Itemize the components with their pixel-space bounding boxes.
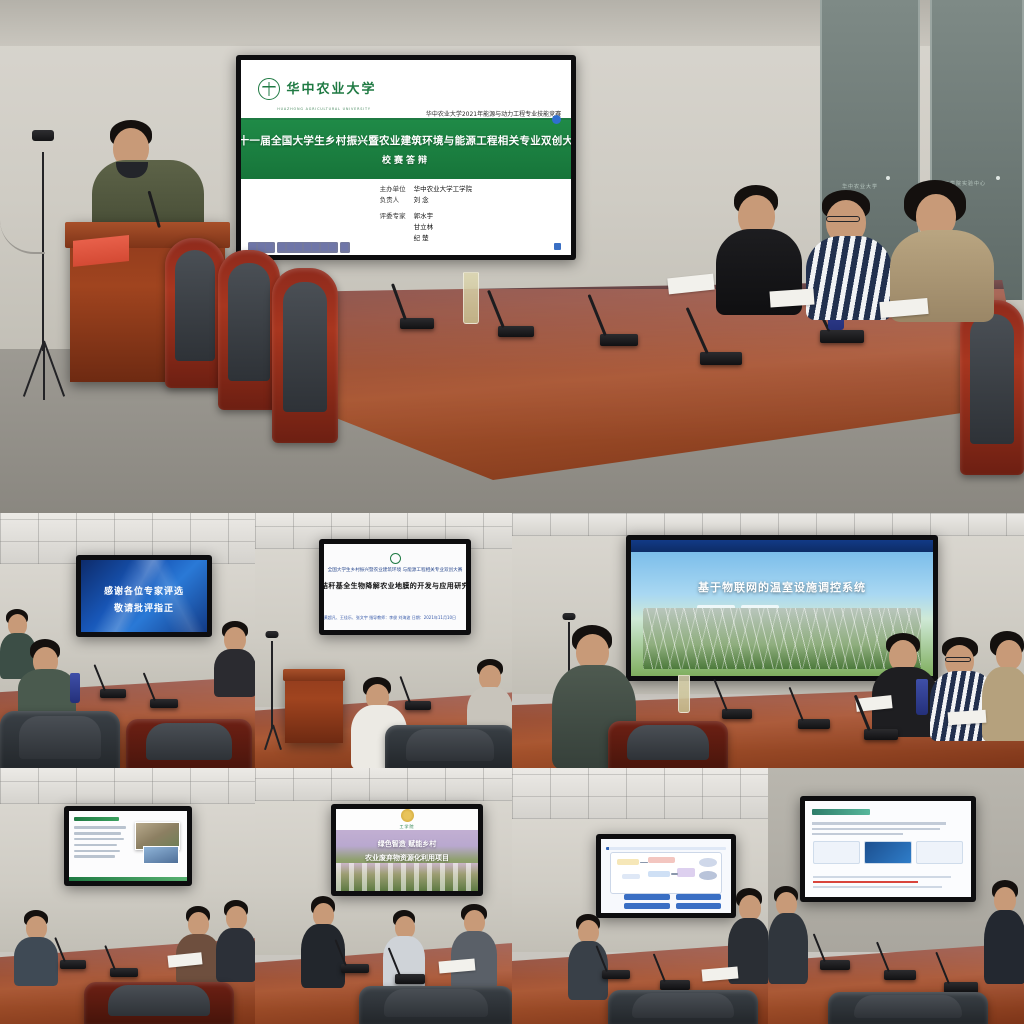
flow-diagram	[610, 852, 722, 893]
attendee-person	[768, 886, 808, 984]
slide-title-line2: 校赛答辩	[382, 153, 430, 166]
judge-glasses-icon	[945, 657, 971, 662]
panel-campus: 工学院 绿色智造 赋能乡村 农业废弃物资源化利用项目	[255, 768, 512, 1024]
ceiling	[0, 768, 255, 804]
chair	[218, 250, 280, 410]
microphone-base	[498, 326, 534, 337]
presentation-screen: 华中农业大学 HUAZHONG AGRICULTURAL UNIVERSITY …	[236, 55, 576, 260]
judge-person-2	[806, 190, 892, 320]
credit-value: 华中农业大学工学院	[414, 184, 473, 195]
presentation-screen	[800, 796, 976, 902]
presentation-screen: 工学院 绿色智造 赋能乡村 农业废弃物资源化利用项目	[331, 804, 483, 896]
podium-top	[283, 669, 344, 681]
campus-photo	[336, 863, 478, 891]
slide-heading-bar	[74, 817, 120, 821]
text-line	[813, 876, 950, 878]
slide-notes	[813, 876, 962, 892]
tripod-leg	[272, 724, 282, 750]
text-line-highlight	[813, 881, 918, 883]
screen-surface	[69, 811, 187, 881]
presenter-torso	[301, 924, 345, 988]
slide-title: 绿色智造 赋能乡村 农业废弃物资源化利用项目	[336, 837, 478, 865]
tripod-leg	[43, 341, 45, 400]
slide-cards	[813, 841, 962, 864]
ceiling	[512, 768, 768, 819]
university-emblem-icon	[258, 78, 280, 100]
slide-card-highlight	[864, 841, 911, 864]
chair	[608, 721, 728, 768]
university-name: 华中农业大学	[287, 83, 377, 96]
text-line	[74, 832, 122, 834]
podium	[285, 669, 343, 743]
credit-key: 负责人	[380, 195, 414, 206]
judging-sheet	[769, 288, 814, 307]
presenter-person	[301, 896, 345, 988]
chair	[359, 986, 512, 1024]
slide-card	[916, 841, 963, 864]
chair	[272, 268, 338, 443]
camera-tripod	[259, 631, 285, 751]
slide-logo-area: 工学院	[336, 809, 478, 830]
judge-person-3	[982, 631, 1024, 741]
thanks-slide-text: 感谢各位专家评选 敬请批评指正	[81, 584, 207, 617]
slide-meta: 主讲人：张明 团队：黄超凡、王佳乐、张文宇 指导教师：李俊 刘海波 日期：202…	[324, 615, 456, 622]
panel-research-photos	[0, 768, 255, 1024]
video-camera-icon	[32, 130, 54, 141]
chair	[385, 725, 512, 768]
slide-card	[813, 841, 860, 864]
toolbar-icon[interactable]	[341, 243, 348, 251]
chair	[126, 719, 252, 768]
credit-row: 纪 楚	[380, 233, 571, 244]
credit-key	[380, 233, 414, 244]
credit-row: 评委专家 郭水宇	[380, 211, 571, 222]
thanks-line-1: 感谢各位专家评选	[81, 584, 207, 601]
video-camera-icon	[266, 631, 279, 638]
thermos-bottle	[916, 679, 928, 715]
toolbar-icon[interactable]	[329, 243, 336, 251]
ceiling	[255, 768, 512, 801]
door-handle-right	[996, 176, 1000, 180]
judge-torso	[982, 667, 1024, 741]
tripod-leg	[43, 340, 65, 396]
presentation-screen: 全国大学生乡村振兴暨农业建筑环境 与能源工程相关专业双创大赛 秸秆基全生物降解农…	[319, 539, 471, 635]
microphone-base	[400, 318, 434, 329]
tripod-pole	[271, 641, 273, 730]
text-line	[812, 822, 946, 824]
flowchart-slide	[601, 839, 731, 913]
flow-node	[699, 858, 717, 867]
credit-value: 刘 念	[414, 195, 429, 206]
attendee-person	[14, 910, 58, 986]
slide-button	[676, 894, 721, 900]
camera-tripod	[20, 130, 66, 400]
screen-surface: 工学院 绿色智造 赋能乡村 农业废弃物资源化利用项目	[336, 809, 478, 891]
door-sign-left: 华中农业大学	[842, 183, 878, 190]
attendee-person	[216, 900, 255, 982]
water-glass	[678, 675, 690, 713]
slide-kicker: 华中农业大学2021年能源与动力工程专业技能竞赛	[426, 109, 561, 118]
text-line	[74, 855, 115, 857]
slide-heading	[606, 847, 726, 851]
college-logo-icon	[401, 809, 414, 822]
slide-header: 全国大学生乡村振兴暨农业建筑环境 与能源工程相关专业双创大赛	[328, 568, 463, 575]
attendee-torso	[768, 913, 808, 984]
chair	[960, 300, 1024, 475]
slide-buttons	[624, 894, 720, 909]
credit-row: 甘立林	[380, 222, 571, 233]
slide-button	[676, 903, 721, 909]
panel-straw-film: 全国大学生乡村振兴暨农业建筑环境 与能源工程相关专业双创大赛 秸秆基全生物降解农…	[255, 513, 512, 768]
text-line	[812, 828, 940, 830]
microphone-base	[600, 334, 638, 346]
slide-credits: 主办单位 华中农业大学工学院 负责人 刘 念 评委专家 郭水宇	[241, 179, 571, 255]
toolbar-icon[interactable]	[295, 243, 302, 251]
toolbar-icon[interactable]	[266, 243, 273, 251]
toolbar-icon[interactable]	[278, 243, 285, 251]
attendee-torso	[214, 649, 255, 697]
screen-surface: 感谢各位专家评选 敬请批评指正	[81, 560, 207, 632]
slide-button	[624, 903, 669, 909]
chair	[0, 711, 120, 768]
flow-node	[677, 868, 695, 877]
attendee-torso	[14, 937, 58, 986]
presentation-screen: 感谢各位专家评选 敬请批评指正	[76, 555, 212, 637]
slide-heading-bar	[812, 809, 870, 815]
attendee-person	[451, 904, 497, 990]
toolbar-group[interactable]	[340, 242, 350, 253]
panel-thanks: 感谢各位专家评选 敬请批评指正	[0, 513, 255, 768]
tech-summary-slide	[805, 801, 971, 897]
university-name-en: HUAZHONG AGRICULTURAL UNIVERSITY	[277, 107, 370, 111]
judge-glasses-icon	[826, 216, 860, 222]
college-name: 工学院	[400, 824, 415, 830]
flow-node	[622, 874, 640, 880]
podium-document	[73, 235, 129, 266]
toolbar-icon[interactable]	[304, 243, 311, 251]
hero-panel: 华中农业大学 工学院实验中心 华中农业大学 HUAZHONG AGRICULTU…	[0, 0, 1024, 513]
flow-node	[699, 871, 717, 880]
judge-head	[996, 640, 1022, 670]
toolbar-icon[interactable]	[287, 243, 294, 251]
flow-connector	[671, 873, 678, 875]
text-line	[74, 838, 124, 840]
campus-slide: 工学院 绿色智造 赋能乡村 农业废弃物资源化利用项目	[336, 809, 478, 891]
presentation-screen	[596, 834, 736, 918]
flow-node	[648, 871, 670, 877]
flow-node	[648, 857, 674, 863]
presenter-toolbar[interactable]	[248, 242, 350, 253]
presentation-screen	[64, 806, 192, 886]
slide-photo-water	[143, 846, 178, 864]
flow-connector	[640, 862, 649, 864]
microphone-base	[864, 729, 898, 740]
slide-control-icon[interactable]	[554, 243, 561, 250]
text-line	[74, 850, 121, 852]
attendee-person	[176, 906, 220, 984]
toolbar-icon[interactable]	[312, 243, 319, 251]
slide-title-line1: 绿色智造 赋能乡村	[336, 837, 478, 851]
text-line	[813, 886, 941, 888]
screen-surface: 华中农业大学 HUAZHONG AGRICULTURAL UNIVERSITY …	[241, 60, 571, 255]
attendee-person	[214, 621, 255, 697]
thanks-line-2: 敬请批评指正	[81, 601, 207, 618]
chair	[165, 238, 225, 388]
attendee-person	[984, 880, 1024, 984]
credit-value: 甘立林	[414, 222, 434, 233]
research-slide	[69, 811, 187, 881]
credit-row: 负责人 刘 念	[380, 195, 571, 206]
thermos-bottle	[70, 673, 80, 703]
screen-surface	[601, 839, 731, 913]
screen-surface	[805, 801, 971, 897]
slide-title-band: 华中农业大学2021年能源与动力工程专业技能竞赛 第十一届全国大学生乡村振兴暨农…	[241, 120, 571, 179]
microphone-base	[820, 330, 864, 343]
panel-tech-summary	[768, 768, 1024, 1024]
panel-greenhouse-iot: 基于物联网的温室设施调控系统	[512, 513, 1024, 768]
chair	[828, 992, 988, 1024]
slide-title: 秸秆基全生物降解农业地膜的开发与应用研究	[324, 581, 466, 591]
slide-footer-bar	[69, 877, 187, 881]
tripod-leg	[23, 340, 45, 396]
attendee-head	[188, 912, 209, 936]
flow-node	[617, 859, 639, 865]
university-emblem-icon	[390, 553, 401, 564]
toolbar-group[interactable]	[277, 242, 338, 253]
credit-key: 评委专家	[380, 211, 414, 222]
slide-title: 基于物联网的温室设施调控系统	[631, 579, 933, 595]
text-line	[74, 826, 126, 828]
credit-key	[380, 222, 414, 233]
attendee-person	[18, 639, 76, 719]
toolbar-icon[interactable]	[321, 243, 328, 251]
slide-top-band	[631, 540, 933, 552]
photo-collage: 华中农业大学 工学院实验中心 华中农业大学 HUAZHONG AGRICULTU…	[0, 0, 1024, 1024]
attendee-head	[226, 906, 247, 930]
slide-title-line1: 第十一届全国大学生乡村振兴暨农业建筑环境与能源工程相关专业双创大赛	[241, 133, 571, 148]
thanks-slide: 感谢各位专家评选 敬请批评指正	[81, 560, 207, 632]
text-line	[812, 833, 904, 835]
title-slide: 全国大学生乡村振兴暨农业建筑环境 与能源工程相关专业双创大赛 秸秆基全生物降解农…	[324, 544, 466, 630]
panel-flowchart	[512, 768, 768, 1024]
screen-surface: 全国大学生乡村振兴暨农业建筑环境 与能源工程相关专业双创大赛 秸秆基全生物降解农…	[324, 544, 466, 630]
credit-value: 郭水宇	[414, 211, 434, 222]
screen-source-icon[interactable]	[552, 115, 561, 124]
video-camera-icon	[563, 613, 576, 620]
judge-person-1	[872, 633, 938, 737]
attendee-torso	[216, 928, 255, 982]
attendee-torso	[984, 910, 1024, 984]
chair	[84, 982, 234, 1024]
credit-key: 主办单位	[380, 184, 414, 195]
credit-row: 主办单位 华中农业大学工学院	[380, 184, 571, 195]
chair	[608, 990, 758, 1024]
water-glass	[463, 272, 479, 324]
credit-value: 纪 楚	[414, 233, 429, 244]
microphone-base	[700, 352, 742, 365]
ceiling	[512, 513, 1024, 536]
slide-text-lines	[812, 822, 965, 835]
judging-sheet	[948, 710, 987, 726]
text-line	[74, 844, 117, 846]
slide-button	[624, 894, 669, 900]
opening-slide: 华中农业大学 HUAZHONG AGRICULTURAL UNIVERSITY …	[241, 60, 571, 255]
